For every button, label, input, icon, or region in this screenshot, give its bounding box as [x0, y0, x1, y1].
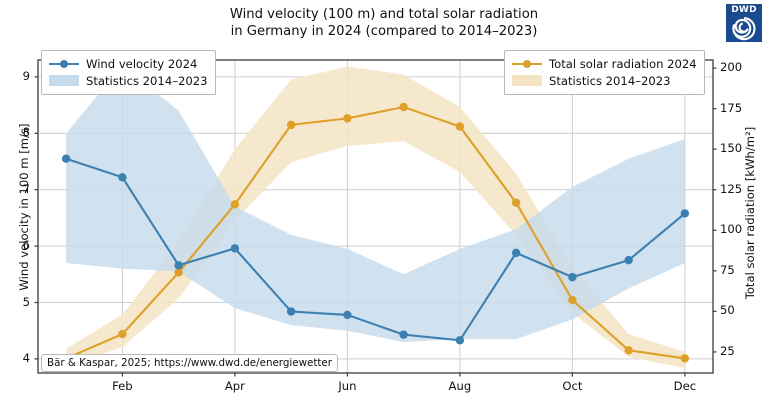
legend-item: Wind velocity 2024 — [49, 55, 208, 72]
x-tick: Oct — [542, 379, 602, 393]
x-tick: Apr — [205, 379, 265, 393]
chart-figure: Wind velocity (100 m) and total solar ra… — [0, 0, 768, 409]
x-tick: Aug — [430, 379, 490, 393]
legend-label: Statistics 2014–2023 — [549, 74, 671, 88]
legend-wind: Wind velocity 2024 Statistics 2014–2023 — [41, 50, 216, 95]
legend-item: Statistics 2014–2023 — [49, 72, 208, 89]
legend-label: Total solar radiation 2024 — [549, 57, 697, 71]
y-tick-left: 9 — [0, 69, 30, 83]
legend-key-band-icon — [49, 74, 79, 87]
legend-key-band-icon — [512, 74, 542, 87]
y-tick-right: 200 — [720, 60, 768, 74]
source-annotation: Bär & Kaspar, 2025; https://www.dwd.de/e… — [41, 354, 338, 372]
legend-solar: Total solar radiation 2024 Statistics 20… — [504, 50, 705, 95]
x-tick: Jun — [317, 379, 377, 393]
y-tick-left: 4 — [0, 351, 30, 365]
legend-label: Wind velocity 2024 — [86, 57, 197, 71]
x-tick: Feb — [92, 379, 152, 393]
legend-key-line-icon — [49, 57, 79, 70]
y-tick-right: 25 — [720, 344, 768, 358]
legend-item: Total solar radiation 2024 — [512, 55, 697, 72]
legend-item: Statistics 2014–2023 — [512, 72, 697, 89]
x-tick: Dec — [655, 379, 715, 393]
y-axis-label-right: Total solar radiation [kWh/m²] — [743, 103, 757, 323]
y-axis-label-left: Wind velocity in 100 m [m/s] — [17, 97, 31, 317]
legend-key-line-icon — [512, 57, 542, 70]
legend-label: Statistics 2014–2023 — [86, 74, 208, 88]
